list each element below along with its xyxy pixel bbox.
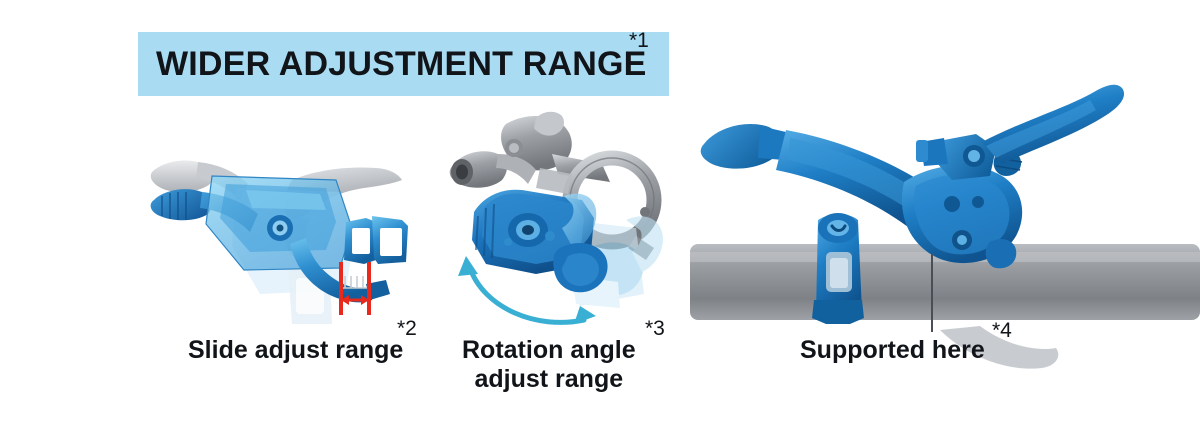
- caption-rotation-adjust: Rotation angle adjust range: [462, 336, 636, 394]
- title-banner: WIDER ADJUSTMENT RANGE: [138, 32, 669, 96]
- illustration-canvas: WIDER ADJUSTMENT RANGE *1: [0, 0, 1200, 428]
- footnote-ref-3: *3: [645, 318, 665, 339]
- caption-slide-adjust: Slide adjust range: [188, 336, 403, 365]
- figure-rotation-adjust-svg: [440, 108, 680, 338]
- rotation-arrow-head-start: [458, 256, 478, 276]
- figure-slide-adjust-svg: [140, 118, 410, 328]
- figure-support-point-svg: [690, 86, 1200, 336]
- blue-clamp-body: [472, 190, 608, 293]
- figure-support-point: [690, 86, 1200, 336]
- caption-support-point: Supported here: [800, 336, 985, 365]
- caption-line: Slide adjust range: [188, 336, 403, 365]
- footnote-ref-4: *4: [992, 320, 1012, 341]
- caption-line: adjust range: [462, 365, 636, 394]
- caption-line: Rotation angle: [462, 336, 636, 365]
- page-title: WIDER ADJUSTMENT RANGE: [156, 45, 646, 84]
- figure-slide-adjust: [140, 118, 410, 328]
- footnote-ref-1: *1: [629, 30, 649, 51]
- figure-rotation-adjust: [440, 108, 680, 338]
- caption-line: Supported here: [800, 336, 985, 365]
